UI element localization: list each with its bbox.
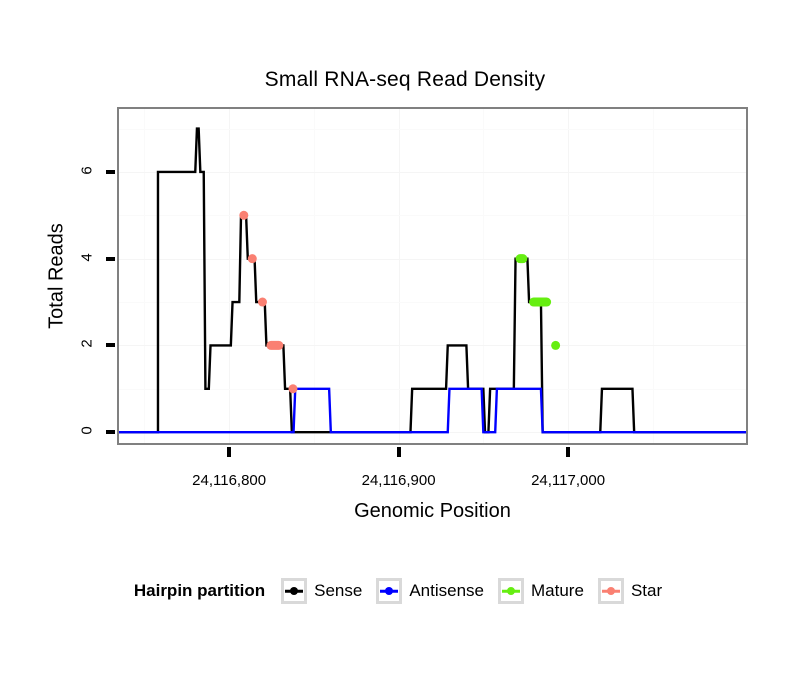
y-tick-label: 2 xyxy=(72,335,102,352)
x-tick-mark xyxy=(397,447,401,457)
legend-label: Sense xyxy=(314,581,362,601)
legend-item-star[interactable]: Star xyxy=(598,578,662,604)
y-tick-label: 6 xyxy=(72,162,102,179)
x-tick-label: 24,116,900 xyxy=(329,472,469,489)
x-tick-mark xyxy=(566,447,570,457)
partition-marker-star xyxy=(266,341,283,350)
chart-root: Small RNA-seq Read Density Total Reads G… xyxy=(0,0,810,690)
legend-item-mature[interactable]: Mature xyxy=(498,578,584,604)
partition-marker-mature xyxy=(529,298,551,307)
legend-item-antisense[interactable]: Antisense xyxy=(376,578,484,604)
legend-key-dot-icon xyxy=(607,587,615,595)
legend-key-star xyxy=(598,578,624,604)
x-tick-label: 24,116,800 xyxy=(159,472,299,489)
legend-key-sense xyxy=(281,578,307,604)
y-axis-title-text: Total Reads xyxy=(46,223,69,329)
legend-key-antisense xyxy=(376,578,402,604)
chart-title: Small RNA-seq Read Density xyxy=(0,68,810,92)
legend: Hairpin partition SenseAntisenseMatureSt… xyxy=(0,578,810,604)
partition-marker-star xyxy=(288,384,297,393)
legend-label: Mature xyxy=(531,581,584,601)
y-tick-label: 4 xyxy=(72,249,102,266)
x-tick-label: 24,117,000 xyxy=(498,472,638,489)
series-line-antisense xyxy=(119,389,746,432)
plot-series-svg xyxy=(119,109,746,443)
legend-title: Hairpin partition xyxy=(134,581,265,601)
y-tick-mark xyxy=(106,343,115,347)
legend-key-dot-icon xyxy=(290,587,298,595)
y-tick-mark xyxy=(106,430,115,434)
legend-key-dot-icon xyxy=(507,587,515,595)
partition-marker-star xyxy=(258,298,267,307)
plot-panel xyxy=(117,107,748,445)
legend-label: Star xyxy=(631,581,662,601)
partition-marker-mature xyxy=(551,341,560,350)
legend-key-dot-icon xyxy=(385,587,393,595)
y-tick-mark xyxy=(106,257,115,261)
partition-marker-star xyxy=(239,211,248,220)
legend-key-mature xyxy=(498,578,524,604)
y-axis-title: Total Reads xyxy=(44,107,70,445)
legend-label: Antisense xyxy=(409,581,484,601)
y-tick-mark xyxy=(106,170,115,174)
x-axis-title: Genomic Position xyxy=(117,500,748,523)
partition-marker-mature xyxy=(516,254,528,263)
partition-marker-star xyxy=(248,254,257,263)
legend-item-sense[interactable]: Sense xyxy=(281,578,362,604)
x-tick-mark xyxy=(227,447,231,457)
series-line-sense xyxy=(119,129,746,433)
y-tick-label: 0 xyxy=(72,422,102,439)
legend-items: SenseAntisenseMatureStar xyxy=(281,578,676,604)
